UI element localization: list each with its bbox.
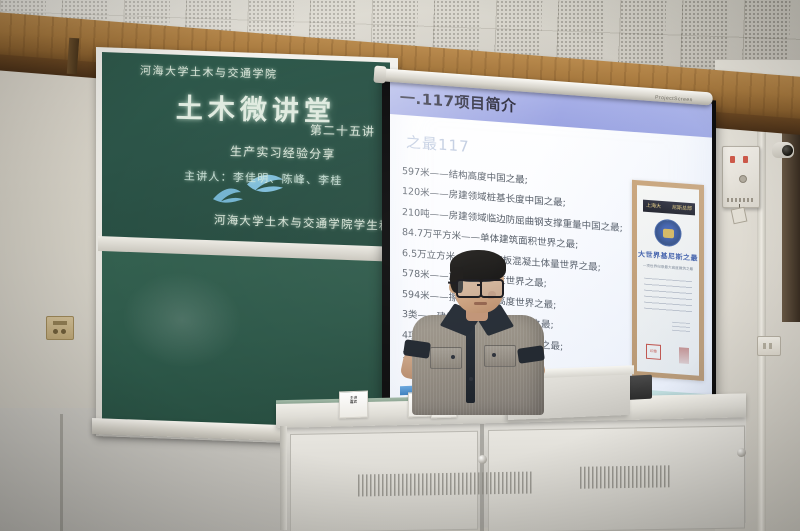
cabinet-left-edge: [280, 426, 287, 530]
camera-lens-icon: [782, 145, 793, 156]
glasses-bridge-icon: [477, 284, 482, 286]
chalk-session-number: 第二十五讲: [310, 121, 375, 140]
glasses-lens-icon: [456, 279, 482, 298]
chalk-subtitle: 生产实习经验分享: [230, 142, 336, 162]
roller-end-cap: [373, 66, 386, 84]
outlet-hole: [61, 329, 66, 334]
cabinet-vent: [358, 471, 534, 496]
glasses-lens-icon: [480, 279, 504, 298]
shirt-button: [492, 353, 496, 357]
shirt-button: [469, 377, 473, 381]
name-card: 主讲 嘉宾: [339, 390, 368, 418]
status-led-icon: [730, 156, 735, 163]
presenter-mouth: [474, 302, 487, 305]
shirt-pocket: [430, 347, 462, 369]
ceiling-camera-icon: [772, 142, 794, 158]
shirt-placket: [466, 325, 475, 403]
cabinet-vent: [580, 465, 672, 489]
status-led-icon: [743, 156, 748, 163]
shirt-button: [451, 355, 455, 359]
control-knob[interactable]: [739, 175, 747, 183]
power-outlet-right-icon: [757, 336, 781, 356]
shirt-pocket: [484, 345, 516, 367]
control-box-label: [727, 198, 755, 202]
control-box-tag: [731, 207, 748, 225]
wall-seam: [60, 414, 63, 531]
presenter: [404, 255, 554, 415]
blackboard-glare: [122, 270, 242, 370]
name-card-text: 主讲 嘉宾: [350, 396, 357, 405]
outlet-hole: [53, 329, 58, 334]
shirt-sleeve-cuff: [403, 339, 431, 358]
lecture-hall-photo: 河海大学土木与交通学院 土木微讲堂 第二十五讲 生产实习经验分享 主讲人：李佳明…: [0, 0, 800, 531]
power-outlet-left-icon: [46, 316, 74, 340]
outlet-slot: [53, 321, 67, 325]
projector-control-box[interactable]: [722, 146, 760, 208]
outlet-slot: [763, 343, 775, 349]
